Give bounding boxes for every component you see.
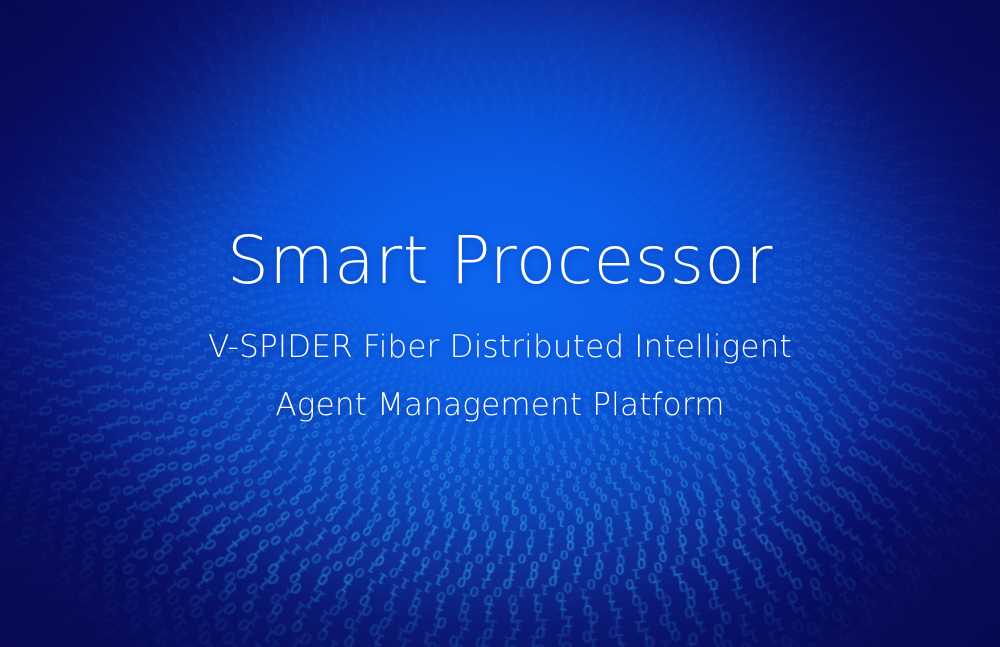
page-subtitle-line-2: Agent Management Platform — [0, 390, 1000, 421]
page-subtitle-line-1: V-SPIDER Fiber Distributed Intelligent — [0, 332, 1000, 363]
page-title: Smart Processor — [0, 228, 1000, 294]
banner-stage: Smart Processor V-SPIDER Fiber Distribut… — [0, 0, 1000, 647]
background-corner-shading — [0, 0, 1000, 647]
